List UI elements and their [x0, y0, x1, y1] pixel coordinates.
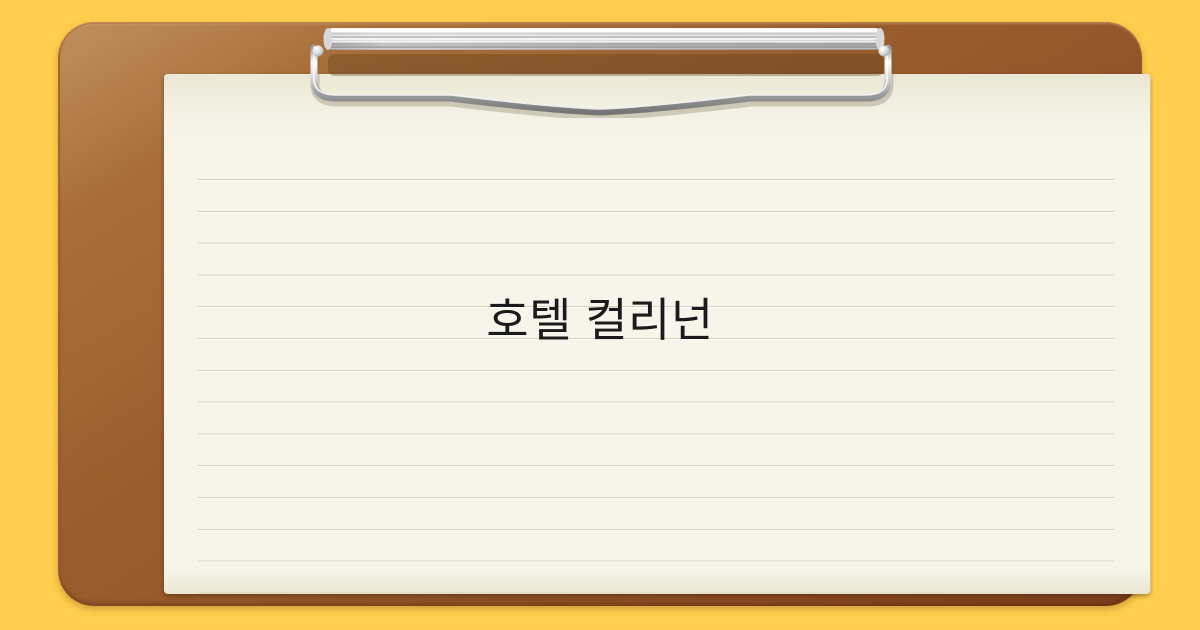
paper-top-shading: [164, 74, 1150, 144]
paper-ruled-lines: [198, 150, 1114, 594]
clipboard-card-canvas: 호텔 컬리넌: [0, 0, 1200, 630]
paper-bottom-shading: [164, 568, 1150, 594]
page-title: 호텔 컬리넌: [0, 292, 1200, 348]
